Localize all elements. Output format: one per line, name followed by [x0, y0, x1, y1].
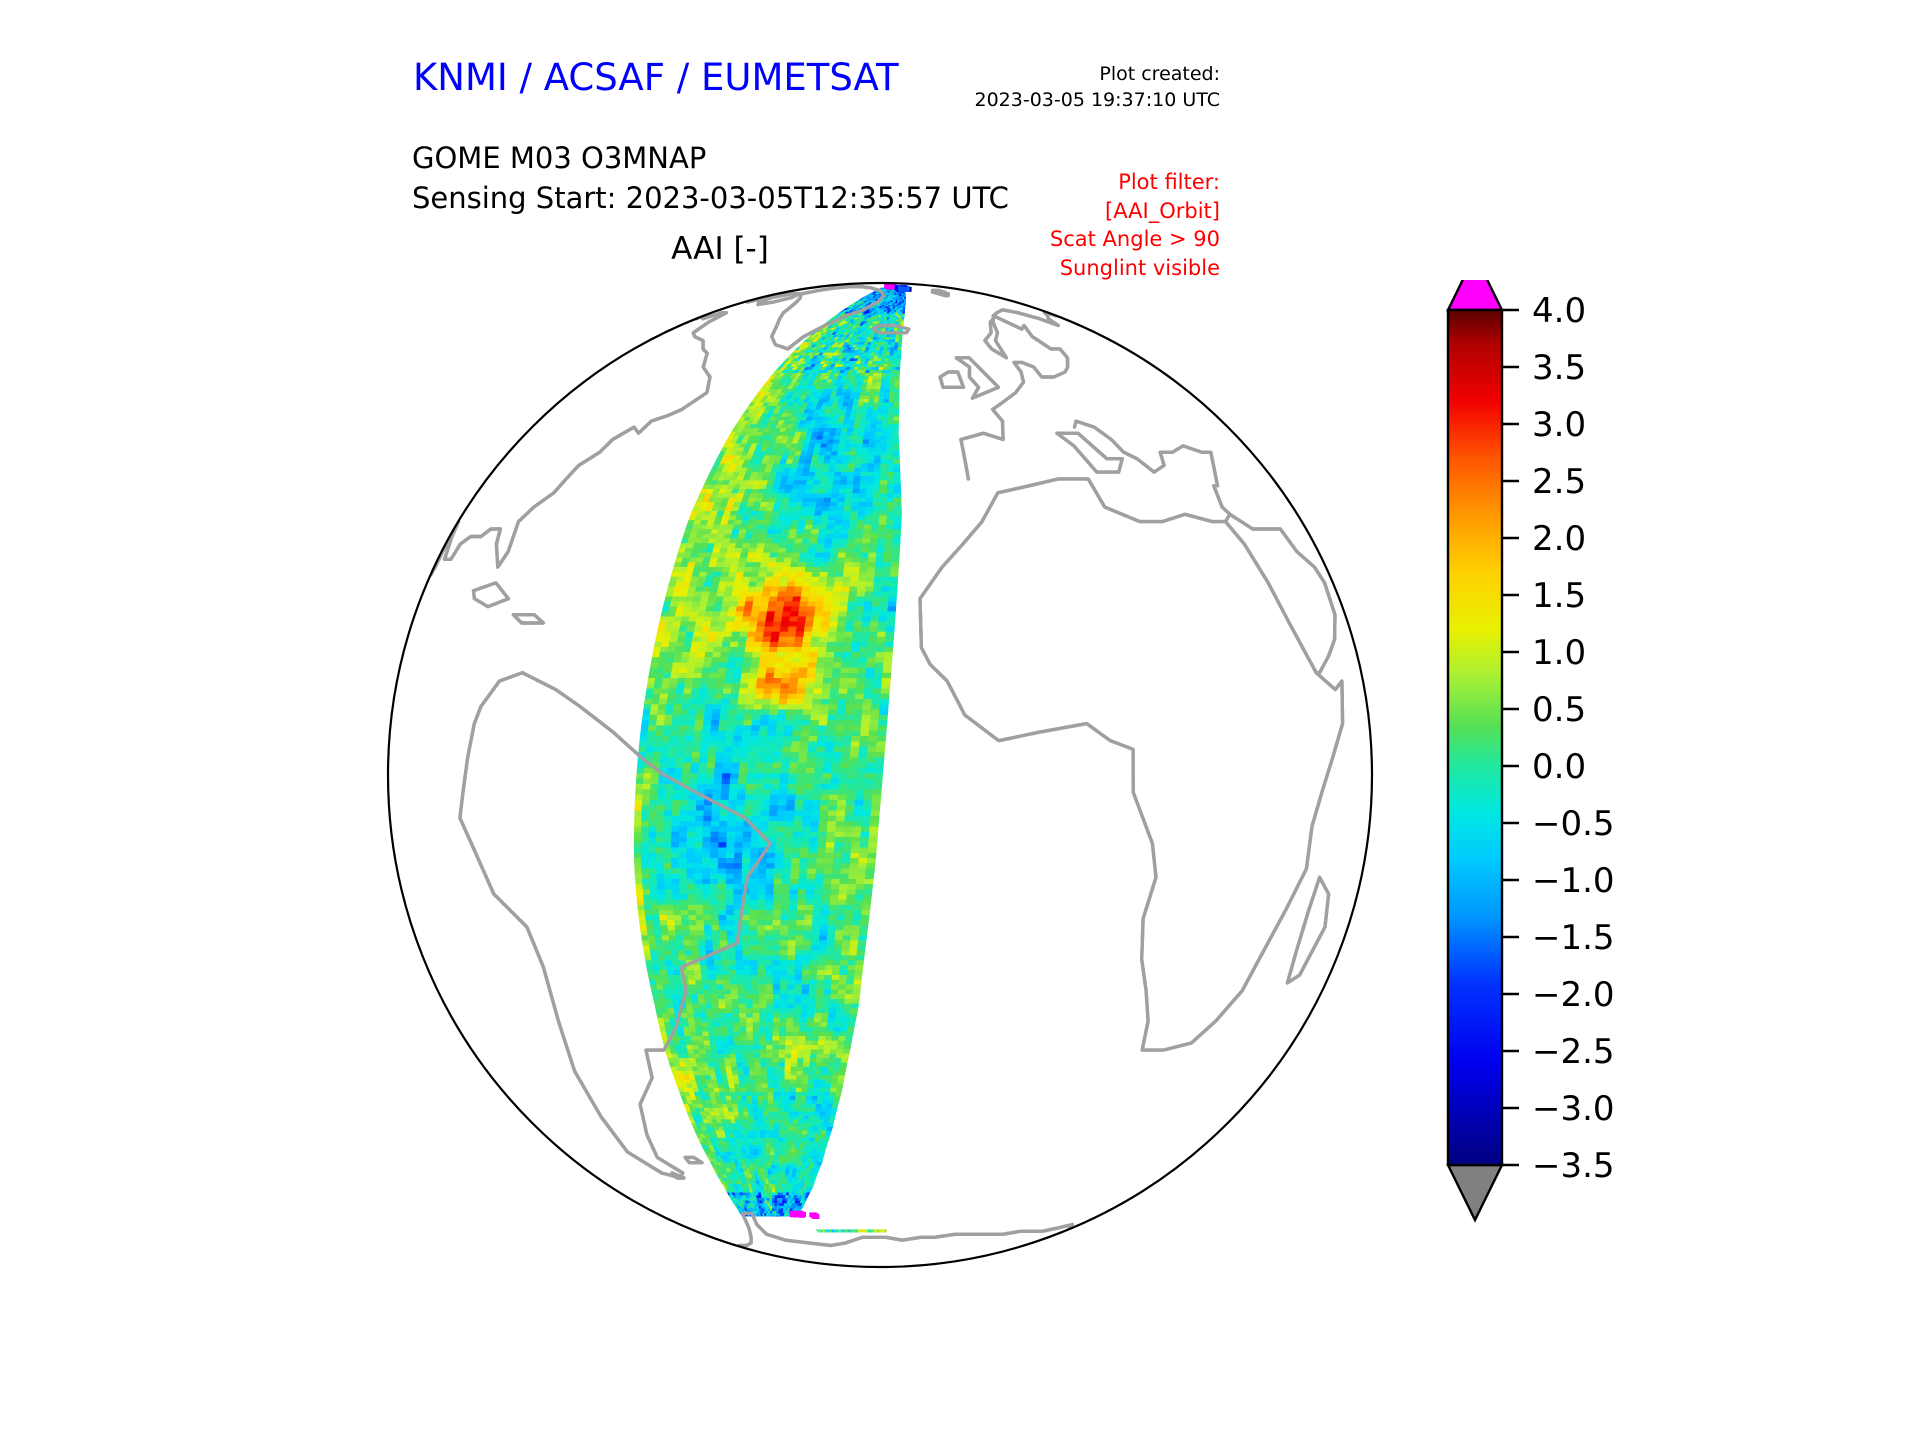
- swath-pixel: [697, 612, 706, 617]
- swath-pixel: [860, 421, 866, 425]
- swath-pixel: [666, 705, 674, 710]
- swath-pixel: [716, 747, 725, 752]
- swath-pixel: [699, 689, 708, 694]
- swath-pixel: [871, 421, 877, 425]
- swath-pixel: [770, 520, 778, 525]
- swath-pixel: [814, 779, 823, 784]
- swath-pixel: [781, 931, 789, 936]
- swath-pixel: [870, 721, 879, 726]
- swath-pixel: [845, 627, 854, 632]
- swath-pixel: [857, 592, 866, 597]
- swath-pixel: [641, 832, 649, 837]
- swath-pixel: [837, 915, 846, 920]
- swath-pixel: [882, 678, 891, 683]
- swath-pixel: [687, 726, 696, 731]
- swath-pixel: [770, 642, 779, 647]
- swath-pixel: [888, 421, 894, 425]
- swath-pixel: [836, 715, 845, 720]
- swath-pixel: [781, 915, 789, 920]
- swath-pixel: [852, 726, 861, 731]
- swath-pixel: [718, 731, 727, 736]
- swath-pixel: [771, 699, 780, 704]
- swath-pixel: [657, 806, 665, 811]
- swath-pixel: [857, 440, 863, 444]
- swath-pixel: [664, 822, 672, 827]
- swath-pixel: [860, 485, 867, 489]
- swath-pixel: [642, 800, 650, 805]
- swath-pixel: [711, 837, 719, 842]
- swath-pixel: [695, 663, 704, 668]
- swath-pixel: [716, 752, 725, 757]
- swath-pixel: [847, 481, 854, 485]
- swath-pixel: [878, 539, 886, 544]
- swath-pixel: [699, 758, 708, 763]
- swath-pixel: [860, 843, 869, 848]
- swath-pixel: [892, 553, 900, 558]
- swath-pixel: [852, 563, 860, 568]
- swath-pixel: [779, 582, 788, 587]
- swath-pixel: [881, 694, 890, 699]
- swath-pixel: [845, 440, 852, 444]
- swath-pixel: [682, 699, 691, 704]
- swath-pixel: [800, 511, 808, 516]
- swath-pixel: [667, 921, 675, 926]
- swath-pixel: [720, 931, 728, 936]
- swath-pixel: [757, 622, 766, 627]
- swath-pixel: [881, 448, 887, 452]
- swath-pixel: [749, 678, 758, 683]
- swath-pixel: [817, 498, 825, 502]
- swath-pixel: [635, 874, 643, 879]
- swath-pixel: [884, 653, 893, 658]
- swath-pixel: [635, 879, 643, 884]
- swath-pixel: [714, 779, 723, 784]
- swath-pixel: [841, 864, 850, 869]
- swath-pixel: [653, 915, 661, 920]
- swath-pixel: [869, 553, 877, 558]
- swath-pixel: [853, 721, 862, 726]
- swath-pixel: [755, 694, 764, 699]
- swath-pixel: [864, 432, 870, 436]
- swath-pixel: [680, 663, 689, 668]
- swath-pixel: [732, 758, 741, 763]
- swath-pixel: [794, 544, 802, 549]
- swath-pixel: [872, 800, 881, 805]
- swath-pixel: [658, 790, 666, 795]
- swath-pixel: [791, 864, 800, 869]
- swath-pixel: [850, 858, 859, 863]
- swath-pixel: [858, 403, 864, 407]
- swath-pixel: [824, 544, 832, 549]
- swath-pixel: [667, 699, 675, 704]
- swath-pixel: [807, 511, 815, 516]
- swath-pixel: [764, 684, 773, 689]
- swath-pixel: [846, 432, 852, 436]
- swath-pixel: [714, 642, 723, 647]
- swath-pixel: [853, 485, 860, 489]
- swath-pixel: [642, 879, 650, 884]
- swath-pixel: [809, 848, 818, 853]
- swath-pixel: [873, 489, 880, 493]
- swath-pixel: [697, 784, 705, 789]
- swath-pixel: [850, 752, 859, 757]
- swath-pixel: [769, 647, 778, 652]
- swath-pixel: [832, 597, 841, 602]
- swath-pixel: [846, 800, 855, 805]
- swath-pixel: [668, 758, 676, 763]
- swath-pixel: [800, 663, 809, 668]
- swath-pixel: [781, 926, 789, 931]
- swath-pixel: [860, 647, 869, 652]
- swath-pixel: [712, 612, 721, 617]
- swath-pixel: [728, 653, 737, 658]
- swath-pixel: [733, 673, 742, 678]
- swath-pixel: [767, 853, 776, 858]
- swath-pixel: [874, 673, 883, 678]
- swath-pixel: [867, 567, 875, 572]
- swath-pixel: [894, 485, 901, 489]
- swath-pixel: [777, 827, 786, 832]
- swath-pixel: [779, 790, 788, 795]
- swath-pixel: [869, 452, 875, 456]
- swath-pixel: [747, 637, 756, 642]
- swath-pixel: [894, 476, 901, 480]
- swath-pixel: [784, 558, 792, 563]
- swath-pixel: [674, 705, 683, 710]
- swath-pixel: [795, 502, 803, 507]
- swath-pixel: [840, 481, 847, 485]
- swath-pixel: [658, 890, 666, 895]
- swath-pixel: [797, 530, 805, 535]
- swath-pixel: [857, 587, 866, 592]
- swath-pixel: [643, 784, 651, 789]
- swath-pixel: [805, 905, 813, 910]
- swath-pixel: [698, 699, 707, 704]
- swath-pixel: [703, 837, 711, 842]
- swath-pixel: [824, 460, 831, 464]
- swath-pixel: [896, 361, 900, 364]
- swath-pixel: [660, 921, 668, 926]
- swath-pixel: [829, 622, 838, 627]
- swath-pixel: [815, 874, 824, 879]
- swath-pixel: [660, 694, 668, 699]
- swath-pixel: [811, 936, 819, 941]
- swath-pixel: [805, 622, 814, 627]
- swath-pixel: [698, 779, 706, 784]
- swath-pixel: [690, 779, 698, 784]
- swath-pixel: [875, 452, 881, 456]
- swath-pixel: [790, 752, 799, 757]
- swath-pixel: [706, 647, 715, 652]
- swath-pixel: [840, 874, 849, 879]
- swath-pixel: [868, 558, 876, 563]
- swath-pixel: [735, 726, 744, 731]
- swath-pixel: [713, 705, 722, 710]
- swath-pixel: [883, 668, 892, 673]
- swath-pixel: [659, 910, 667, 915]
- swath-pixel: [747, 774, 756, 779]
- swath-pixel: [835, 726, 844, 731]
- swath-pixel: [750, 885, 758, 890]
- swath-pixel: [887, 481, 894, 485]
- swath-pixel: [788, 779, 797, 784]
- swath-pixel: [724, 592, 733, 597]
- swath-pixel: [689, 795, 697, 800]
- swath-pixel: [846, 705, 855, 710]
- swath-pixel: [645, 910, 653, 915]
- swath-pixel: [704, 926, 712, 931]
- swath-pixel: [649, 874, 657, 879]
- swath-pixel: [746, 642, 755, 647]
- swath-pixel: [829, 915, 838, 920]
- swath-pixel: [821, 800, 830, 805]
- swath-pixel: [635, 869, 643, 874]
- swath-pixel: [806, 612, 815, 617]
- swath-pixel: [688, 811, 696, 816]
- swath-pixel: [671, 858, 679, 863]
- swath-pixel: [657, 885, 665, 890]
- swath-pixel: [883, 370, 888, 373]
- swath-pixel: [737, 705, 746, 710]
- swath-pixel: [723, 597, 732, 602]
- swath-pixel: [871, 417, 877, 421]
- swath-pixel: [786, 715, 795, 720]
- swath-pixel: [700, 747, 709, 752]
- swath-pixel: [702, 858, 710, 863]
- swath-pixel: [861, 553, 869, 558]
- swath-pixel: [880, 485, 887, 489]
- swath-pixel: [798, 678, 807, 683]
- swath-pixel: [706, 774, 714, 779]
- swath-pixel: [750, 905, 758, 910]
- swath-pixel: [858, 428, 864, 432]
- swath-pixel: [850, 516, 858, 521]
- swath-pixel: [694, 673, 703, 678]
- swath-pixel: [833, 440, 840, 444]
- swath-pixel: [855, 699, 864, 704]
- swath-pixel: [861, 637, 870, 642]
- swath-pixel: [858, 869, 867, 874]
- swath-pixel: [809, 843, 818, 848]
- swath-pixel: [887, 370, 892, 373]
- swath-pixel: [734, 731, 743, 736]
- swath-pixel: [863, 444, 869, 448]
- swath-pixel: [750, 742, 759, 747]
- swath-pixel: [743, 726, 752, 731]
- swath-pixel: [840, 539, 848, 544]
- swath-pixel: [894, 410, 899, 414]
- swath-pixel: [677, 941, 685, 946]
- swath-pixel: [781, 572, 790, 577]
- swath-pixel: [889, 396, 894, 399]
- swath-pixel: [860, 563, 868, 568]
- swath-pixel: [635, 795, 643, 800]
- swath-pixel: [798, 890, 806, 895]
- swath-pixel: [758, 869, 766, 874]
- swath-pixel: [821, 910, 830, 915]
- swath-pixel: [840, 673, 849, 678]
- swath-pixel: [829, 910, 838, 915]
- swath-pixel: [637, 900, 645, 905]
- swath-pixel: [696, 910, 704, 915]
- swath-pixel: [792, 853, 801, 858]
- globe-map: [380, 270, 1380, 1280]
- swath-pixel: [772, 544, 780, 549]
- swath-pixel: [852, 494, 859, 498]
- swath-pixel: [853, 627, 862, 632]
- swath-pixel: [710, 853, 718, 858]
- swath-pixel: [823, 774, 832, 779]
- swath-pixel: [884, 658, 893, 663]
- swath-pixel: [712, 936, 720, 941]
- swath-pixel: [827, 476, 834, 480]
- swath-pixel: [842, 853, 851, 858]
- swath-pixel: [786, 511, 794, 516]
- swath-pixel: [853, 915, 862, 920]
- swath-pixel: [815, 673, 824, 678]
- swath-pixel: [650, 795, 658, 800]
- swath-pixel: [877, 632, 886, 637]
- swath-pixel: [859, 853, 868, 858]
- swath-pixel: [840, 879, 849, 884]
- swath-pixel: [834, 582, 843, 587]
- swath-pixel: [863, 436, 869, 440]
- swath-pixel: [750, 874, 758, 879]
- swath-pixel: [711, 910, 719, 915]
- swath-pixel: [695, 853, 703, 858]
- swath-pixel: [652, 653, 660, 658]
- swath-pixel: [785, 553, 793, 558]
- swath-pixel: [791, 668, 800, 673]
- swath-pixel: [763, 694, 772, 699]
- swath-pixel: [897, 356, 901, 359]
- swath-pixel: [855, 468, 862, 472]
- swath-pixel: [744, 827, 753, 832]
- swath-pixel: [656, 673, 664, 678]
- swath-pixel: [668, 926, 676, 931]
- swath-pixel: [774, 567, 783, 572]
- swath-pixel: [796, 498, 804, 502]
- swath-pixel: [804, 936, 812, 941]
- swath-pixel: [658, 658, 666, 663]
- swath-pixel: [634, 848, 641, 853]
- swath-pixel: [819, 827, 828, 832]
- swath-pixel: [635, 806, 643, 811]
- swath-pixel: [873, 790, 882, 795]
- swath-pixel: [782, 758, 791, 763]
- swath-pixel: [854, 905, 863, 910]
- swath-pixel: [872, 602, 881, 607]
- swath-pixel: [672, 843, 680, 848]
- swath-pixel: [750, 910, 758, 915]
- swath-pixel: [739, 768, 748, 773]
- swath-pixel: [759, 663, 768, 668]
- swath-pixel: [772, 768, 781, 773]
- swath-pixel: [736, 607, 745, 612]
- swath-pixel: [734, 874, 742, 879]
- swath-pixel: [890, 383, 895, 386]
- swath-pixel: [835, 731, 844, 736]
- swath-pixel: [802, 642, 811, 647]
- swath-pixel: [721, 705, 730, 710]
- swath-pixel: [892, 548, 900, 553]
- swath-pixel: [817, 742, 826, 747]
- swath-pixel: [761, 597, 770, 602]
- swath-pixel: [866, 663, 875, 668]
- swath-pixel: [869, 736, 878, 741]
- swath-pixel: [743, 848, 751, 853]
- swath-pixel: [805, 910, 813, 915]
- swath-pixel: [833, 485, 840, 489]
- swath-pixel: [854, 710, 863, 715]
- swath-pixel: [777, 721, 786, 726]
- swath-pixel: [765, 926, 773, 931]
- swath-pixel: [878, 534, 886, 539]
- swath-pixel: [826, 731, 835, 736]
- swath-pixel: [814, 612, 823, 617]
- swath-pixel: [747, 632, 756, 637]
- swath-pixel: [828, 572, 837, 577]
- swath-pixel: [702, 668, 711, 673]
- swath-pixel: [742, 577, 751, 582]
- swath-pixel: [882, 572, 890, 577]
- swath-pixel: [867, 858, 876, 863]
- swath-pixel: [727, 837, 735, 842]
- swath-pixel: [835, 936, 843, 941]
- swath-pixel: [875, 763, 884, 768]
- swath-pixel: [750, 915, 758, 920]
- swath-pixel: [762, 520, 770, 525]
- swath-pixel: [742, 853, 750, 858]
- swath-pixel: [715, 597, 724, 602]
- swath-pixel: [851, 843, 860, 848]
- swath-pixel: [894, 481, 901, 485]
- swath-pixel: [808, 747, 817, 752]
- swath-pixel: [710, 668, 719, 673]
- swath-pixel: [636, 890, 644, 895]
- swath-pixel: [829, 468, 836, 472]
- swath-pixel: [847, 476, 854, 480]
- swath-pixel: [868, 460, 875, 464]
- swath-pixel: [849, 673, 858, 678]
- swath-pixel: [843, 931, 851, 936]
- swath-pixel: [636, 895, 644, 900]
- swath-pixel: [815, 553, 823, 558]
- swath-pixel: [680, 879, 688, 884]
- swath-pixel: [739, 637, 748, 642]
- swath-pixel: [862, 452, 869, 456]
- swath-pixel: [672, 885, 680, 890]
- swath-pixel: [718, 668, 727, 673]
- swath-pixel: [803, 534, 811, 539]
- swath-pixel: [876, 386, 881, 389]
- swath-pixel: [752, 721, 761, 726]
- swath-pixel: [783, 663, 792, 668]
- swath-pixel: [887, 460, 893, 464]
- swath-pixel: [711, 843, 719, 848]
- swath-pixel: [782, 752, 791, 757]
- swath-pixel: [649, 668, 657, 673]
- swath-pixel: [865, 774, 874, 779]
- swath-pixel: [808, 597, 817, 602]
- swath-pixel: [754, 784, 763, 789]
- swath-pixel: [783, 747, 792, 752]
- swath-pixel: [894, 399, 899, 403]
- globe-map-svg: [380, 270, 1380, 1280]
- swath-pixel: [688, 816, 696, 821]
- swath-pixel: [820, 931, 828, 936]
- swath-pixel: [846, 622, 855, 627]
